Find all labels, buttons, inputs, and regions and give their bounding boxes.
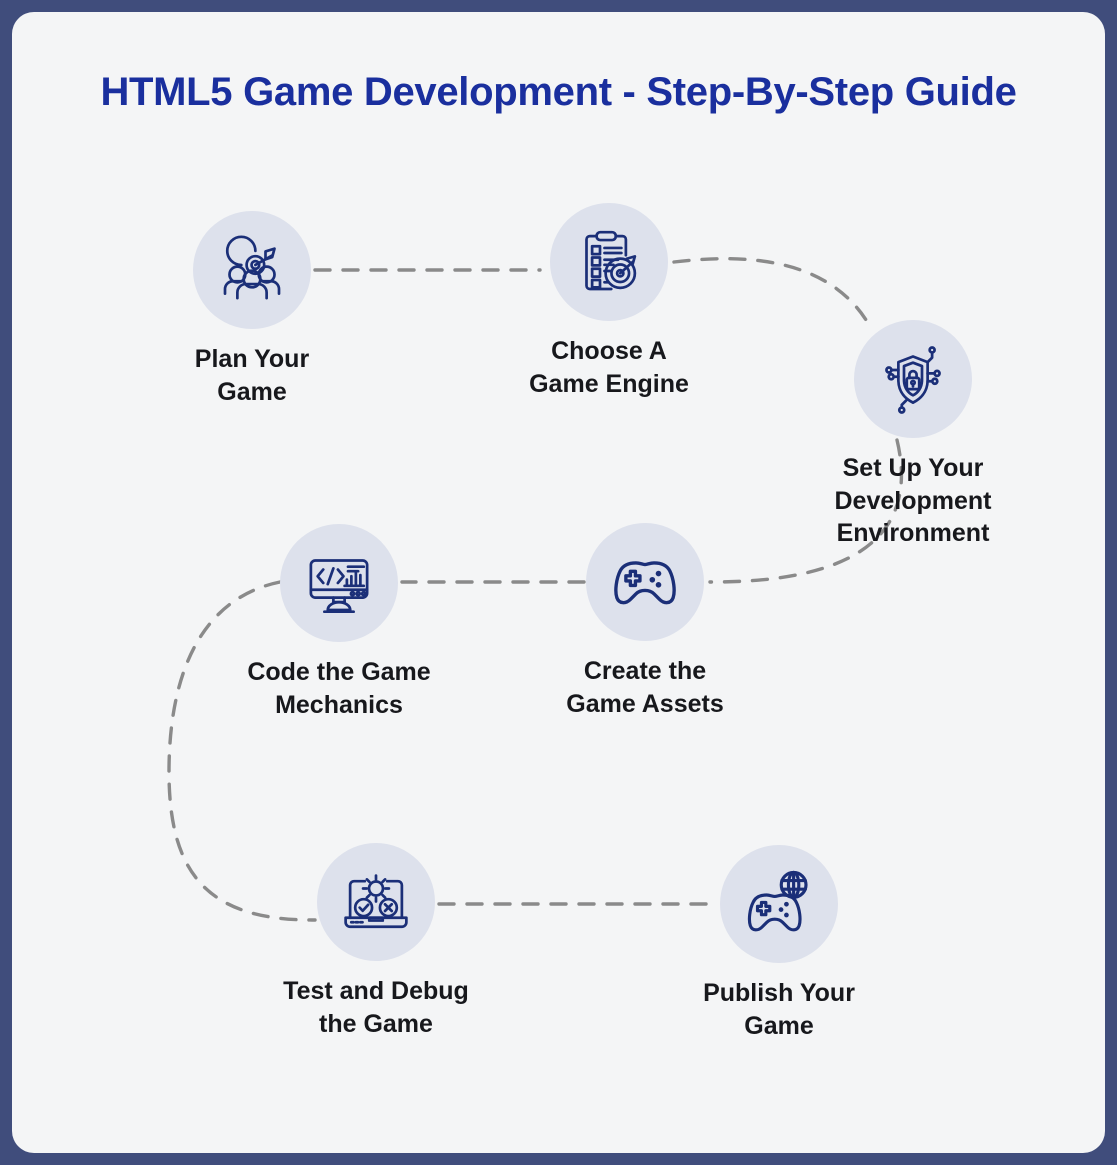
step-badge [193, 211, 311, 329]
infographic-card: HTML5 Game Development - Step-By-Step Gu… [12, 12, 1105, 1153]
step-node-set-up-your-development-environment[interactable]: Set Up Your Development Environment [783, 320, 1043, 550]
step-label: Plan Your Game [195, 343, 309, 408]
gamepad-icon [609, 546, 681, 618]
gamepad-globe-icon [743, 868, 815, 940]
clipboard-target-icon [573, 226, 645, 298]
laptop-gear-check-cross-icon [340, 866, 412, 938]
step-badge [720, 845, 838, 963]
step-badge [550, 203, 668, 321]
step-label: Test and Debug the Game [283, 975, 469, 1040]
step-node-choose-a-game-engine[interactable]: Choose A Game Engine [479, 203, 739, 400]
step-node-create-the-game-assets[interactable]: Create the Game Assets [515, 523, 775, 720]
step-badge [586, 523, 704, 641]
step-label: Set Up Your Development Environment [835, 452, 992, 550]
step-label: Choose A Game Engine [529, 335, 689, 400]
step-node-test-and-debug-the-game[interactable]: Test and Debug the Game [246, 843, 506, 1040]
shield-lock-circuit-icon [877, 343, 949, 415]
infographic-frame: HTML5 Game Development - Step-By-Step Gu… [0, 0, 1117, 1165]
step-label: Create the Game Assets [566, 655, 724, 720]
step-node-code-the-game-mechanics[interactable]: Code the Game Mechanics [209, 524, 469, 721]
step-badge [854, 320, 972, 438]
step-label: Publish Your Game [703, 977, 855, 1042]
page-title: HTML5 Game Development - Step-By-Step Gu… [12, 70, 1105, 115]
step-node-plan-your-game[interactable]: Plan Your Game [122, 211, 382, 408]
step-label: Code the Game Mechanics [247, 656, 430, 721]
step-node-publish-your-game[interactable]: Publish Your Game [649, 845, 909, 1042]
team-target-icon [216, 234, 288, 306]
step-badge [317, 843, 435, 961]
step-badge [280, 524, 398, 642]
monitor-code-chart-icon [303, 547, 375, 619]
